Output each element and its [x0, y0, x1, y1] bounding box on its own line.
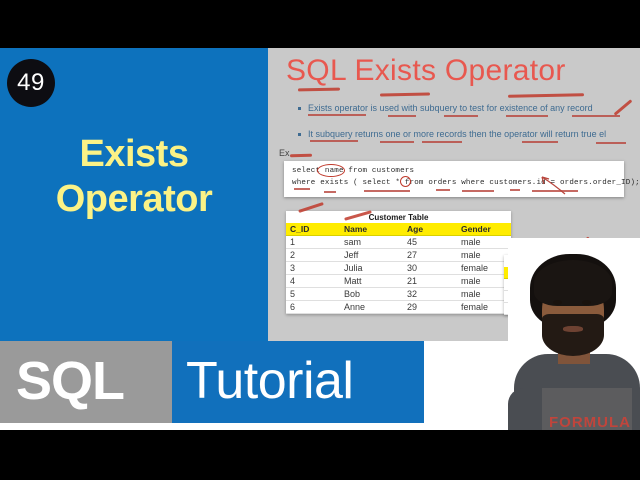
- circle-annotation-star: [400, 176, 411, 187]
- video-frame: 49 Exists Operator SQL Exists Operator E…: [0, 0, 640, 480]
- heading-underline-1: [298, 88, 340, 92]
- title-panel: 49 Exists Operator: [0, 48, 268, 341]
- cell: 4: [286, 275, 340, 288]
- table-row: 6 Anne 29 female: [286, 301, 511, 314]
- code-underline: [462, 190, 494, 192]
- heading-underline-2: [380, 92, 430, 96]
- table-row: 2 Jeff 27 male: [286, 249, 511, 262]
- cell: 1: [286, 236, 340, 249]
- table-row: 1 sam 45 male: [286, 236, 511, 249]
- column-header-c-id: C_ID: [286, 223, 340, 236]
- bullet-text: Exists operator is used with subquery to…: [308, 103, 593, 113]
- presenter-eye-left: [553, 300, 562, 305]
- sql-code-block: select name from customers where exists …: [284, 161, 624, 197]
- example-underline: [290, 154, 312, 157]
- presenter-mouth: [563, 326, 583, 332]
- table-row: 3 Julia 30 female: [286, 262, 511, 275]
- cell: 27: [403, 249, 457, 262]
- code-underline: [436, 189, 450, 191]
- customer-table-body: 1 sam 45 male 2 Jeff 27 male 3: [286, 236, 511, 314]
- cell: Anne: [340, 301, 403, 314]
- table-row: 5 Bob 32 male: [286, 288, 511, 301]
- bullet-underline: [572, 115, 620, 117]
- code-underline: [364, 190, 410, 192]
- presenter-arm: [508, 388, 534, 430]
- presenter-beard: [542, 314, 604, 356]
- bullet-underline: [506, 115, 548, 117]
- bullet-underline: [388, 115, 416, 117]
- cell: 2: [286, 249, 340, 262]
- cell: 29: [403, 301, 457, 314]
- bullet-underline: [444, 115, 478, 117]
- page-title-line1: Exists: [0, 132, 268, 177]
- presenter-hair-front: [534, 260, 612, 306]
- column-header-gender: Gender: [457, 223, 511, 236]
- page-title: Exists Operator: [0, 132, 268, 222]
- presenter-video-overlay: FORMULA: [508, 238, 640, 430]
- customer-table-caption: Customer Table: [286, 211, 511, 223]
- cell: male: [457, 236, 511, 249]
- cell: 45: [403, 236, 457, 249]
- cell: male: [457, 275, 511, 288]
- slide-heading: SQL Exists Operator: [286, 54, 566, 88]
- customer-table: Customer Table C_ID Name Age Gender 1 sa…: [286, 211, 511, 314]
- cell: female: [457, 301, 511, 314]
- list-item: Exists operator is used with subquery to…: [296, 103, 640, 114]
- code-underline: [324, 191, 336, 193]
- cell: male: [457, 288, 511, 301]
- sql-code-line-2: where exists ( select * from orders wher…: [292, 179, 640, 187]
- presenter-shirt-text: FORMULA: [544, 414, 636, 430]
- episode-badge: 49: [7, 59, 55, 107]
- cell: sam: [340, 236, 403, 249]
- table-row: 4 Matt 21 male: [286, 275, 511, 288]
- cell: 3: [286, 262, 340, 275]
- list-item: It subquery returns one or more records …: [296, 129, 640, 140]
- pointer-arrow-icon: [540, 174, 566, 196]
- episode-badge-number: 49: [17, 69, 45, 97]
- cell: 32: [403, 288, 457, 301]
- cell: 21: [403, 275, 457, 288]
- presenter-eye-right: [582, 300, 591, 305]
- page-title-line2: Operator: [0, 177, 268, 222]
- bullet-underline: [596, 142, 626, 144]
- bullet-underline: [522, 141, 558, 143]
- customer-table-grid: C_ID Name Age Gender 1 sam 45 male: [286, 223, 511, 314]
- bullet-underline: [380, 141, 414, 143]
- cell: Matt: [340, 275, 403, 288]
- column-header-age: Age: [403, 223, 457, 236]
- example-label: Ex: [279, 148, 290, 158]
- table-header-row: C_ID Name Age Gender: [286, 223, 511, 236]
- sql-code-line-1: select name from customers: [292, 167, 414, 175]
- cell: Jeff: [340, 249, 403, 262]
- video-content-band: 49 Exists Operator SQL Exists Operator E…: [0, 48, 640, 430]
- code-underline: [294, 188, 310, 190]
- cell: 30: [403, 262, 457, 275]
- code-underline: [510, 189, 520, 191]
- bullet-list: Exists operator is used with subquery to…: [296, 103, 640, 155]
- cell: male: [457, 249, 511, 262]
- cell: female: [457, 262, 511, 275]
- cell: Julia: [340, 262, 403, 275]
- bullet-underline: [422, 141, 462, 143]
- column-header-name: Name: [340, 223, 403, 236]
- cell: Bob: [340, 288, 403, 301]
- banner-word-sql: SQL: [16, 346, 124, 416]
- circle-annotation-name: [317, 164, 345, 177]
- cell: 6: [286, 301, 340, 314]
- bullet-text: It subquery returns one or more records …: [308, 129, 606, 139]
- bullet-underline: [308, 114, 366, 116]
- banner-word-tutorial: Tutorial: [186, 346, 353, 416]
- heading-underline-3: [508, 93, 584, 98]
- cell: 5: [286, 288, 340, 301]
- bullet-underline: [310, 140, 358, 142]
